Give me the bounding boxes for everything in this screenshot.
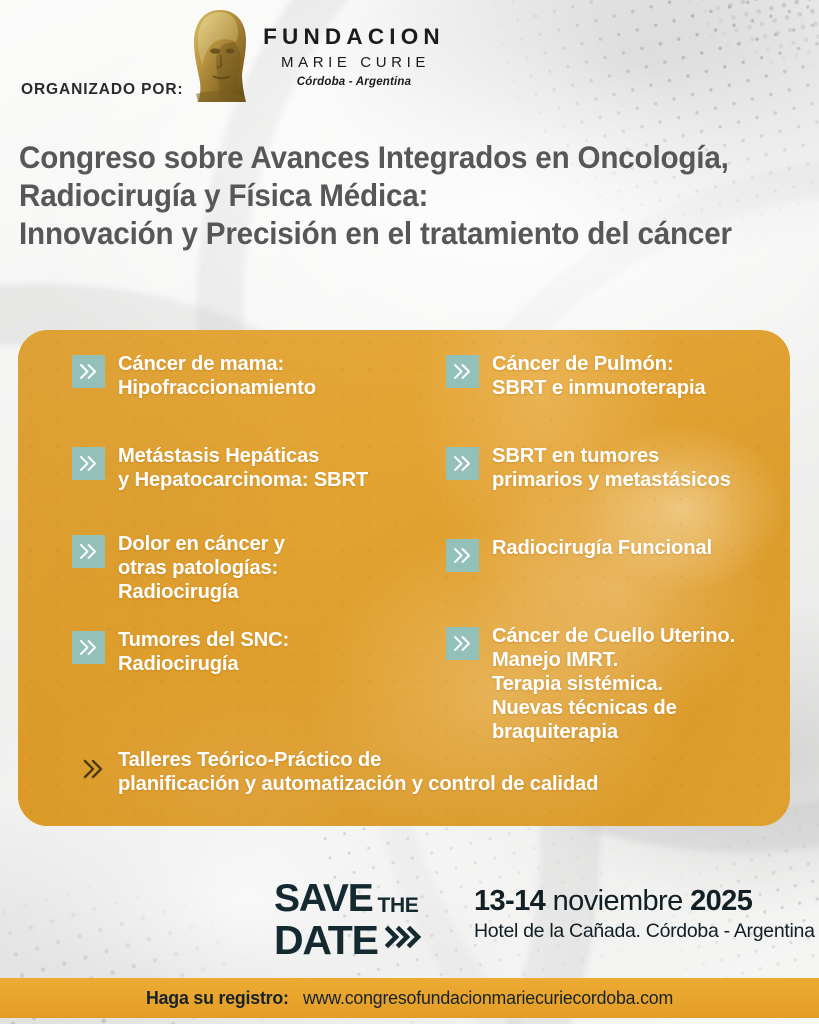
topic-item-label: Cáncer de Pulmón:SBRT e inmunoterapia: [492, 352, 705, 400]
topic-line: Hipofraccionamiento: [118, 376, 316, 400]
topic-line: Radiocirugía: [118, 652, 289, 676]
topic-line: Cáncer de Pulmón:: [492, 352, 705, 376]
registration-text: Haga su registro: www.congresofundacionm…: [146, 987, 673, 1009]
topic-line: primarios y metastásicos: [492, 468, 731, 492]
logo-line-marie-curie: MARIE CURIE: [258, 55, 450, 70]
header: ORGANIZADO POR:: [0, 0, 819, 120]
topic-line: braquiterapia: [492, 720, 735, 744]
registration-bar[interactable]: Haga su registro: www.congresofundacionm…: [0, 978, 819, 1018]
topic-line: Cáncer de mama:: [118, 352, 316, 376]
event-month: noviembre: [553, 885, 683, 917]
topic-line: Nuevas técnicas de: [492, 696, 735, 720]
date-word: DATE: [274, 920, 378, 961]
chevron-double-right-icon: [446, 355, 479, 388]
topic-item: Cáncer de mama:Hipofraccionamiento: [72, 352, 316, 400]
topic-line: Radiocirugía: [118, 580, 285, 604]
chevron-double-right-icon: [72, 355, 105, 388]
chevron-double-right-icon: [72, 535, 105, 568]
logo-wordmark: FUNDACION MARIE CURIE Córdoba - Argentin…: [258, 26, 450, 88]
event-year: 2025: [690, 885, 752, 917]
topic-line: y Hepatocarcinoma: SBRT: [118, 468, 368, 492]
title-line-2: Radiocirugía y Física Médica:: [19, 176, 752, 214]
event-days: 13-14: [474, 885, 545, 917]
logo-line-location: Córdoba - Argentina: [258, 77, 450, 89]
topic-item: Radiocirugía Funcional: [446, 536, 712, 560]
topic-item-label: Dolor en cáncer yotras patologías:Radioc…: [118, 532, 285, 604]
topic-item: Metástasis Hepáticasy Hepatocarcinoma: S…: [72, 444, 368, 492]
topic-item: Tumores del SNC:Radiocirugía: [72, 628, 289, 676]
topic-item-label: SBRT en tumoresprimarios y metastásicos: [492, 444, 731, 492]
page-title: Congreso sobre Avances Integrados en Onc…: [19, 138, 752, 252]
topic-line: Cáncer de Cuello Uterino.: [492, 624, 735, 648]
chevron-double-right-icon: [446, 539, 479, 572]
title-line-1: Congreso sobre Avances Integrados en Onc…: [19, 138, 752, 176]
event-date-line: 13-14 noviembre 2025: [474, 884, 819, 918]
chevron-double-right-icon: [72, 631, 105, 664]
registration-url[interactable]: www.congresofundacionmariecuriecordoba.c…: [303, 987, 673, 1008]
title-line-3: Innovación y Precisión en el tratamiento…: [19, 214, 752, 252]
topics-panel: Cáncer de mama:HipofraccionamientoMetást…: [18, 330, 790, 826]
chevron-double-right-icon: [80, 756, 106, 782]
the-word: THE: [378, 895, 419, 918]
save-the-date-block: SAVE THE DATE: [274, 879, 484, 961]
marie-curie-bust-icon: [190, 8, 252, 104]
topic-line: Dolor en cáncer y: [118, 532, 285, 556]
topic-item-label: Cáncer de Cuello Uterino.Manejo IMRT.Ter…: [492, 624, 735, 744]
topic-item-label: Tumores del SNC:Radiocirugía: [118, 628, 289, 676]
topic-item-label: Metástasis Hepáticasy Hepatocarcinoma: S…: [118, 444, 368, 492]
logo-line-fundacion: FUNDACION: [258, 26, 450, 49]
foundation-logo: FUNDACION MARIE CURIE Córdoba - Argentin…: [190, 8, 450, 112]
chevron-double-right-icon: [446, 447, 479, 480]
chevron-triple-right-icon: [385, 924, 427, 957]
topic-item-label: Cáncer de mama:Hipofraccionamiento: [118, 352, 316, 400]
topic-item: Cáncer de Cuello Uterino.Manejo IMRT.Ter…: [446, 624, 735, 744]
poster-root: ORGANIZADO POR:: [0, 0, 819, 1024]
topic-item-label: Radiocirugía Funcional: [492, 536, 712, 560]
chevron-double-right-icon: [446, 627, 479, 660]
topic-line: SBRT en tumores: [492, 444, 731, 468]
topic-line: Tumores del SNC:: [118, 628, 289, 652]
topic-item-label: Talleres Teórico-Práctico deplanificació…: [118, 748, 790, 796]
event-venue: Hotel de la Cañada. Córdoba - Argentina: [474, 919, 819, 943]
topic-item: Cáncer de Pulmón:SBRT e inmunoterapia: [446, 352, 705, 400]
topic-line: Talleres Teórico-Práctico de: [118, 748, 790, 772]
organized-by-label: ORGANIZADO POR:: [21, 81, 183, 99]
event-details: 13-14 noviembre 2025 Hotel de la Cañada.…: [474, 884, 819, 943]
topic-line: Terapia sistémica.: [492, 672, 735, 696]
topic-line: Manejo IMRT.: [492, 648, 735, 672]
topic-item: Dolor en cáncer yotras patologías:Radioc…: [72, 532, 285, 604]
registration-label: Haga su registro:: [146, 987, 289, 1008]
topic-line: planificación y automatización y control…: [118, 772, 790, 796]
topic-item: SBRT en tumoresprimarios y metastásicos: [446, 444, 731, 492]
save-word: SAVE: [274, 879, 373, 918]
topic-item-workshops: Talleres Teórico-Práctico deplanificació…: [80, 748, 790, 796]
chevron-double-right-icon: [72, 447, 105, 480]
topic-line: otras patologías:: [118, 556, 285, 580]
topic-line: Metástasis Hepáticas: [118, 444, 368, 468]
topic-line: SBRT e inmunoterapia: [492, 376, 705, 400]
topic-line: Radiocirugía Funcional: [492, 536, 712, 560]
